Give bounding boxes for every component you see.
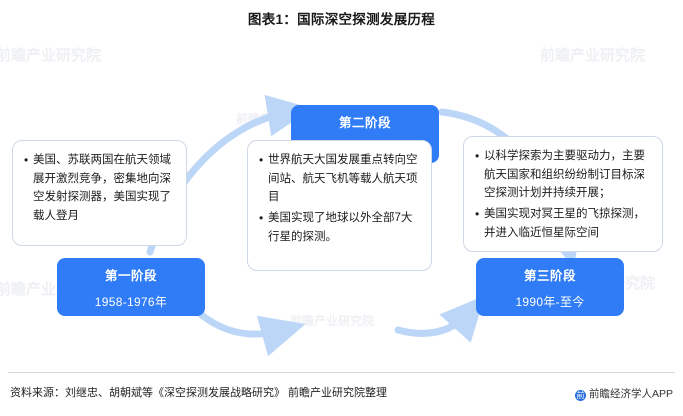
- stage-3-label-card[interactable]: 第三阶段 1990年-至今: [476, 258, 624, 316]
- brand-credit: 前前瞻经济学人APP: [575, 386, 673, 401]
- stage-3-years: 1990年-至今: [515, 293, 584, 310]
- watermark: 前瞻产业研究院: [540, 44, 645, 65]
- brand-logo-icon: 前: [575, 390, 586, 401]
- page-title: 图表1：国际深空探测发展历程: [0, 8, 683, 28]
- stage-1-description-card: 美国、苏联两国在航天领域展开激烈竞争，密集地向深空发射探测器，美国实现了载人登月: [12, 140, 187, 246]
- bullet: 美国实现了地球以外全部7大行星的探测。: [259, 209, 420, 246]
- stage-2-name: 第二阶段: [339, 112, 391, 131]
- footer-divider: [8, 372, 675, 373]
- bullet: 美国、苏联两国在航天领域展开激烈竞争，密集地向深空发射探测器，美国实现了载人登月: [24, 151, 175, 226]
- brand-name: 前瞻经济学人APP: [589, 388, 673, 400]
- source-note: 资料来源：刘继忠、胡朝斌等《深空探测发展战略研究》 前瞻产业研究院整理: [10, 384, 387, 400]
- stage-2-description-card: 世界航天大国发展重点转向空间站、航天飞机等载人航天项目 美国实现了地球以外全部7…: [247, 140, 432, 271]
- bullet: 世界航天大国发展重点转向空间站、航天飞机等载人航天项目: [259, 151, 420, 207]
- bullet: 美国实现对冥王星的飞掠探测，并进入临近恒星际空间: [475, 205, 651, 242]
- stage-1-label-card[interactable]: 第一阶段 1958-1976年: [57, 258, 205, 316]
- stage-1-years: 1958-1976年: [95, 293, 167, 310]
- stage-3-description-card: 以科学探索为主要驱动力，主要航天国家和组织纷纷制订目标深空探测计划并持续开展； …: [463, 136, 663, 252]
- infographic-page: 图表1：国际深空探测发展历程 前瞻产业研究院 前瞻产业研究院 前瞻产业研究院 前…: [0, 0, 683, 416]
- stage-3-name: 第三阶段: [524, 265, 576, 284]
- stage-1-name: 第一阶段: [105, 265, 157, 284]
- watermark: 前瞻产业研究院: [0, 44, 101, 65]
- bullet: 以科学探索为主要驱动力，主要航天国家和组织纷纷制订目标深空探测计划并持续开展；: [475, 147, 651, 203]
- watermark: 前瞻产业研究院: [290, 312, 374, 329]
